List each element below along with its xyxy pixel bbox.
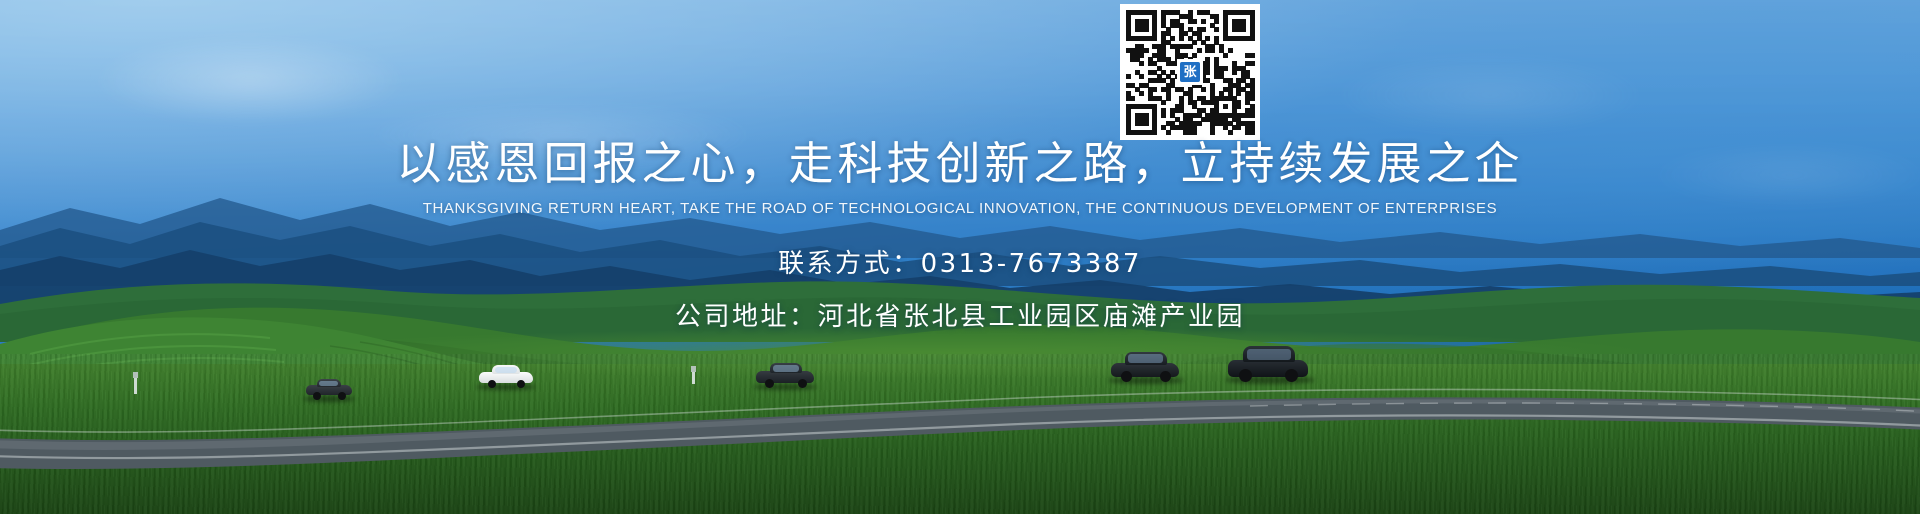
- qr-code-modules: 张: [1126, 10, 1254, 134]
- qr-logo-glyph: 张: [1183, 66, 1196, 79]
- qr-code[interactable]: 张: [1120, 4, 1260, 140]
- page-subtitle: THANKSGIVING RETURN HEART, TAKE THE ROAD…: [0, 200, 1920, 217]
- page-title: 以感恩回报之心，走科技创新之路，立持续发展之企: [0, 140, 1920, 189]
- black-suv-far-right: [1228, 346, 1310, 382]
- roadside-marker-post: [134, 372, 137, 394]
- banner-copy: 以感恩回报之心，走科技创新之路，立持续发展之企 THANKSGIVING RET…: [0, 140, 1920, 333]
- cloud-wisp: [1280, 40, 1700, 150]
- dark-sedan-mid: [756, 364, 816, 388]
- promo-banner: 张 以感恩回报之心，走科技创新之路，立持续发展之企 THANKSGIVING R…: [0, 0, 1920, 514]
- dark-suv-right: [1111, 352, 1181, 382]
- address-line: 公司地址：河北省张北县工业园区庙滩产业园: [0, 296, 1920, 333]
- qr-code-logo: 张: [1177, 59, 1203, 85]
- white-sedan: [479, 366, 535, 388]
- contact-line: 联系方式：0313-7673387: [0, 243, 1920, 280]
- winding-road: [0, 334, 1920, 514]
- dark-sedan-left: [306, 380, 354, 400]
- roadside-marker-post: [692, 366, 695, 384]
